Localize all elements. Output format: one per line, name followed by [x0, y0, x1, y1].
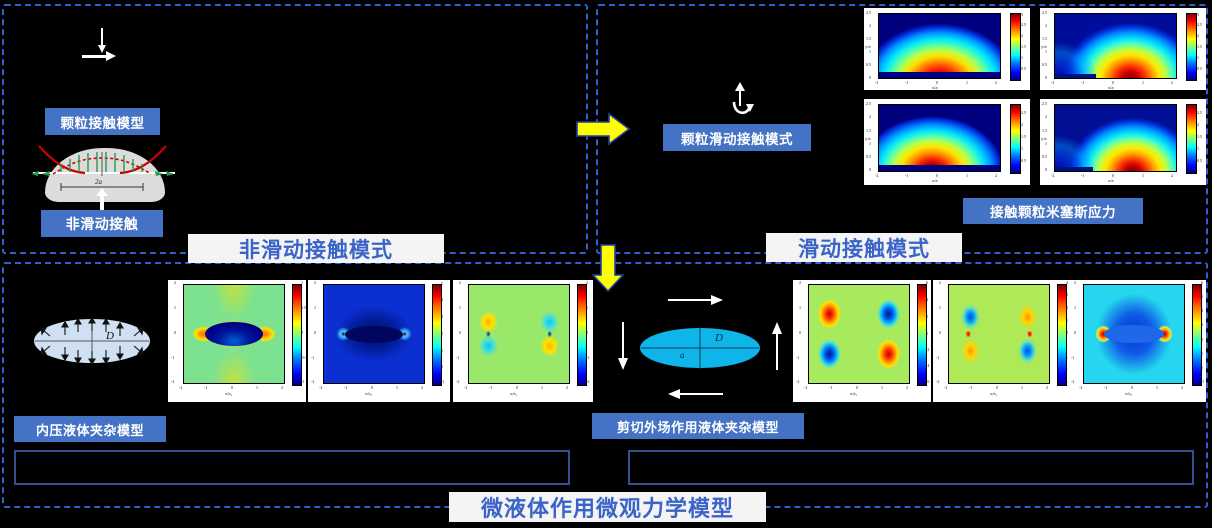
heatmap-incl-s-2: 2 1 0 -1 -2 -2 -1 0 1 2 x/a₁ 4 3 2 1 0 -… [933, 280, 1071, 402]
slip-load-arrows [726, 82, 758, 122]
plot-area [1054, 13, 1177, 79]
colorbar [1010, 13, 1021, 81]
heatmap-incl-p-1: 2 1 0 -1 -2 -2 -1 0 1 2 x/a₁ 1 0.5 0 -0.… [168, 280, 306, 402]
y-axis-label: y/a [1041, 44, 1047, 49]
chip-particle-slip-contact: 颗粒滑动接触模式 [663, 124, 811, 151]
plot-area [323, 284, 425, 384]
heatmap-mises-tl: 2.5 2 1.5 1 0.5 0 -2 -1 0 1 2 x/a y/a 0.… [864, 8, 1030, 90]
x-axis-label: x/a [932, 178, 938, 183]
x-axis-label: x/a [932, 85, 938, 90]
x-axis-label: x/a₁ [990, 391, 997, 396]
inclusion-dim-label: D [715, 332, 723, 344]
colorbar [1010, 104, 1021, 174]
banner-fluid: 微液体作用微观力学模型 [449, 492, 766, 522]
heatmap-incl-p-2: 2 1 0 -1 -2 -2 -1 0 1 2 x/a₁ 5 4 3 2 1 0… [308, 280, 450, 402]
plot-area [1054, 104, 1177, 172]
particle-contact-dome: 2a [25, 140, 180, 205]
heatmap-mises-tr: 2.5 2 1.5 1 0.5 0 -2 -1 0 1 2 x/a y/a 0.… [1040, 8, 1206, 90]
plot-area [878, 13, 1001, 79]
flow-arrow-down [591, 243, 625, 298]
outline-box-left [14, 450, 570, 485]
plot-area [808, 284, 910, 384]
heatmap-incl-p-3: 2 1 0 -1 -2 -2 -1 0 1 2 x/a₁ 2 1 0 -1 -2 [453, 280, 593, 402]
colorbar [1186, 13, 1197, 81]
colorbar [1192, 284, 1202, 386]
inclusion-minor-label: a [680, 350, 685, 360]
heatmap-mises-br: 2.5 2 1.5 1 0.5 0 -2 -1 0 1 2 x/a y/a 0.… [1040, 99, 1206, 185]
chip-mises-stress: 接触颗粒米塞斯应力 [963, 198, 1143, 224]
plot-area [183, 284, 285, 384]
plot-area [1083, 284, 1185, 384]
chip-particle-contact-model: 颗粒接触模型 [45, 108, 160, 135]
heatmap-mises-bl: 2.5 2 1.5 1 0.5 0 -2 -1 0 1 2 x/a y/a 0.… [864, 99, 1030, 185]
heatmap-incl-s-1: 2 1 0 -1 -2 -2 -1 0 1 2 x/a₁ 6 4 2 0 -2 … [793, 280, 931, 402]
outline-box-right [628, 450, 1194, 485]
shear-loaded-fluid-inclusion: D a [610, 288, 790, 406]
plot-area [468, 284, 570, 384]
y-axis-label: y/a [865, 44, 871, 49]
dome-width-label: 2a [95, 178, 102, 186]
heatmap-incl-s-3: 2 1 0 -1 -2 -2 -1 0 1 2 x/a₁ 6 5 4 3 2 1… [1068, 280, 1206, 402]
y-axis-label: y/a [865, 136, 871, 141]
plot-area [948, 284, 1050, 384]
y-axis-label: y/a [1041, 136, 1047, 141]
internal-pressure-fluid-inclusion: D [30, 308, 154, 373]
tangential-load-arrow [82, 50, 124, 62]
plot-area [878, 104, 1001, 172]
curved-rotation-icon [726, 100, 758, 124]
x-axis-label: x/a₁ [510, 391, 517, 396]
flow-arrow-right [575, 112, 631, 151]
banner-nonslip: 非滑动接触模式 [188, 234, 444, 263]
banner-slip: 滑动接触模式 [766, 233, 962, 262]
x-axis-label: x/a₁ [365, 391, 372, 396]
chip-internal-pressure: 内压液体夹杂模型 [14, 416, 166, 442]
x-axis-label: x/a [1108, 85, 1114, 90]
x-axis-label: x/a₁ [1125, 391, 1132, 396]
inclusion-dim-label: D [106, 330, 114, 342]
colorbar [1186, 104, 1197, 174]
chip-shear-field: 剪切外场作用液体夹杂模型 [592, 413, 804, 439]
x-axis-label: x/a [1108, 178, 1114, 183]
x-axis-label: x/a₁ [850, 391, 857, 396]
colorbar [292, 284, 302, 386]
x-axis-label: x/a₁ [225, 391, 232, 396]
chip-non-slip-contact: 非滑动接触 [41, 210, 163, 237]
normal-force-arrow [95, 188, 111, 210]
colorbar [577, 284, 587, 386]
